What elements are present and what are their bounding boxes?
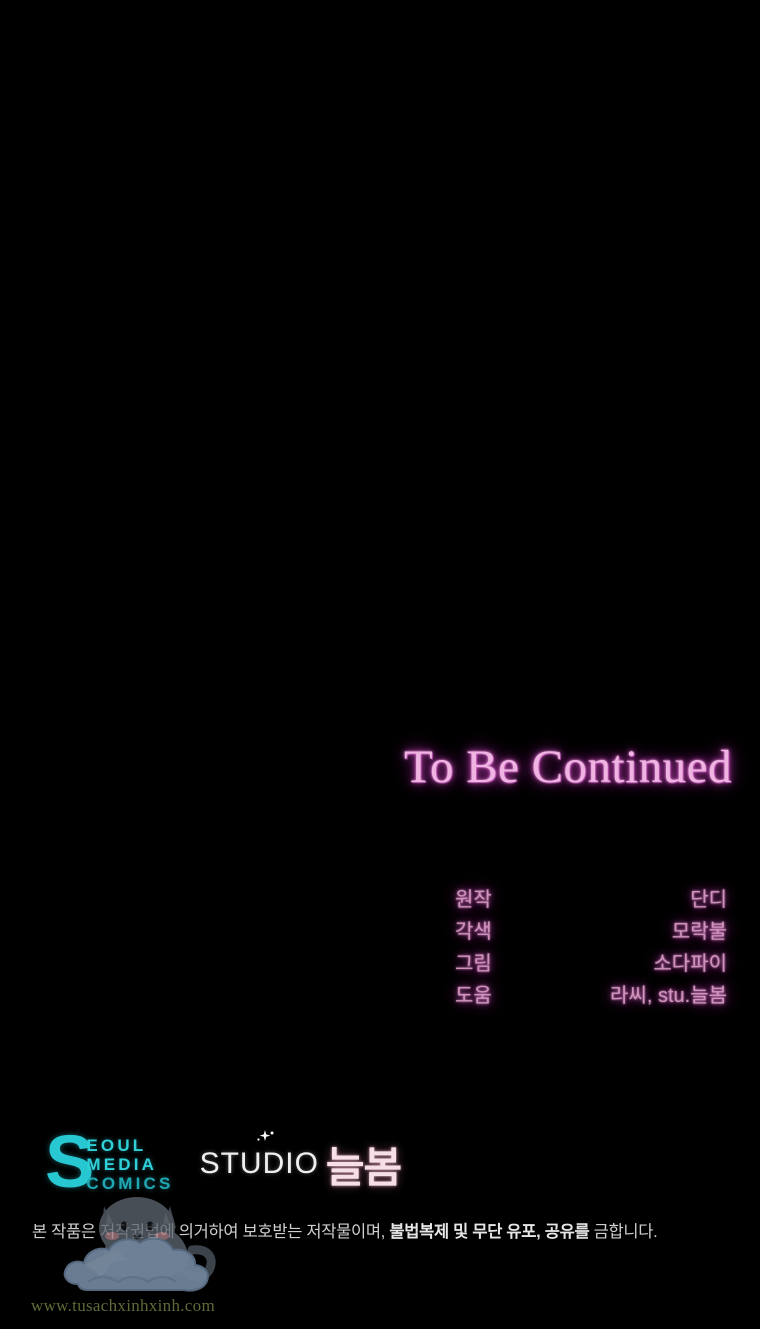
sparkle-icon bbox=[254, 1130, 276, 1148]
credit-row: 원작 단디 bbox=[455, 884, 727, 916]
to-be-continued-text: To Be Continued bbox=[0, 744, 732, 791]
credit-name: 단디 bbox=[690, 884, 727, 916]
credit-name: 소다파이 bbox=[653, 948, 727, 980]
credit-role: 그림 bbox=[455, 948, 492, 980]
seoul-media-comics-logo: S EOUL MEDIA COMICS bbox=[45, 1126, 174, 1198]
credit-row: 도움 라씨, stu.늘봄 bbox=[455, 980, 727, 1012]
seoul-media-wordmark: EOUL MEDIA COMICS bbox=[86, 1132, 173, 1193]
seoul-media-line-comics: COMICS bbox=[86, 1174, 173, 1193]
copyright-notice: 본 작품은 저작권법에 의거하여 보호받는 저작물이며, 불법복제 및 무단 유… bbox=[32, 1220, 657, 1244]
credit-role: 각색 bbox=[455, 916, 492, 948]
neulbom-brand: 늘봄 bbox=[326, 1134, 401, 1195]
credit-role: 도움 bbox=[455, 980, 492, 1012]
copyright-part-2-bold: 불법복제 및 무단 유포, 공유를 bbox=[389, 1223, 589, 1241]
credit-row: 그림 소다파이 bbox=[455, 948, 727, 980]
credit-name: 라씨, stu.늘봄 bbox=[610, 980, 727, 1012]
publisher-logos: S EOUL MEDIA COMICS STUDIO 늘봄 bbox=[45, 1126, 401, 1200]
credits-block: 원작 단디 각색 모락불 그림 소다파이 도움 라씨, stu.늘봄 bbox=[455, 884, 727, 1012]
watermark-url: www.tusachxinhxinh.com bbox=[31, 1296, 215, 1316]
comic-end-page: To Be Continued 원작 단디 각색 모락불 그림 소다파이 도움 … bbox=[0, 0, 760, 1329]
studio-neulbom-logo: STUDIO 늘봄 bbox=[200, 1126, 402, 1200]
copyright-part-1: 본 작품은 저작권법에 의거하여 보호받는 저작물이며, bbox=[32, 1223, 389, 1241]
seoul-media-line-eoul: EOUL bbox=[86, 1136, 173, 1155]
credit-row: 각색 모락불 bbox=[455, 916, 727, 948]
studio-wordmark: STUDIO bbox=[200, 1147, 319, 1181]
copyright-part-3: 금합니다. bbox=[589, 1223, 657, 1241]
credit-name: 모락불 bbox=[672, 916, 727, 948]
seoul-media-line-media: MEDIA bbox=[86, 1155, 173, 1174]
credit-role: 원작 bbox=[455, 884, 492, 916]
